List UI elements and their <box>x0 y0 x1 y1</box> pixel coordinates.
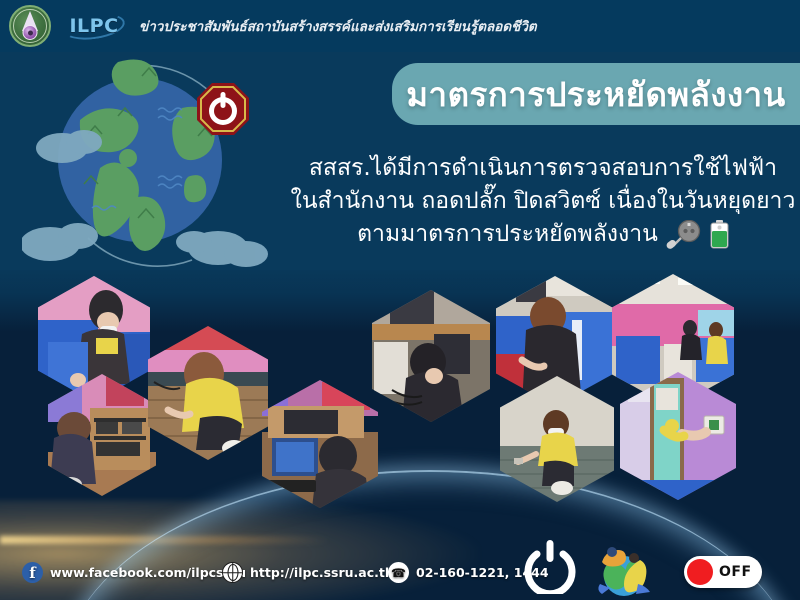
phone-icon: ☎ <box>388 562 409 583</box>
globe-icon <box>222 562 243 583</box>
table-row <box>620 372 736 500</box>
toggle-label: OFF <box>719 564 752 580</box>
ilpc-logo-text: ILPC <box>69 15 118 37</box>
table-row <box>148 326 268 460</box>
photo-under-desk <box>372 290 490 422</box>
facebook-url: www.facebook.com/ilpcssru <box>50 565 246 580</box>
body-line-1: สสสร.ได้มีการดำเนินการตรวจสอบการใช้ไฟฟ้า <box>286 152 800 185</box>
photo-collage <box>0 268 800 503</box>
battery-icon <box>710 220 729 249</box>
photo-shelf-equipment <box>48 374 156 496</box>
table-row <box>48 374 156 496</box>
toggle-knob <box>687 559 713 585</box>
photo-desktop-pc <box>262 380 378 508</box>
body-line-2: ในสำนักงาน ถอดปลั๊ก ปิดสวิตซ์ เนื่องในวั… <box>286 185 800 218</box>
energy-saving-poster: ILPC ข่าวประชาสัมพันธ์สถาบันสร้างสรรค์แล… <box>0 0 800 600</box>
facebook-icon: f <box>22 562 43 583</box>
title-banner: มาตรการประหยัดพลังงาน <box>392 63 800 125</box>
table-row <box>262 380 378 508</box>
ssru-seal-icon <box>9 5 51 47</box>
body-line-3: ตามมาตรการประหยัดพลังงาน <box>357 218 658 251</box>
earth-illustration <box>22 48 272 273</box>
header-bar: ILPC ข่าวประชาสัมพันธ์สถาบันสร้างสรรค์แล… <box>0 0 800 52</box>
page-title: มาตรการประหยัดพลังงาน <box>406 68 785 121</box>
table-row <box>500 376 614 502</box>
photo-light-switch <box>620 372 736 500</box>
earth-hug-illustration <box>594 544 656 598</box>
body-line-3-row: ตามมาตรการประหยัดพลังงาน <box>286 218 800 251</box>
website-url: http://ilpc.ssru.ac.th <box>250 565 394 580</box>
plug-icon <box>664 220 704 250</box>
power-icon <box>522 538 578 594</box>
footer-bar: f www.facebook.com/ilpcssru http://ilpc.… <box>0 546 800 600</box>
body-text: สสสร.ได้มีการดำเนินการตรวจสอบการใช้ไฟฟ้า… <box>286 152 800 251</box>
photo-wall-socket <box>500 376 614 502</box>
header-tagline: ข่าวประชาสัมพันธ์สถาบันสร้างสรรค์และส่งเ… <box>139 15 537 37</box>
power-badge-icon <box>197 83 249 135</box>
off-toggle-switch[interactable]: OFF <box>684 556 762 588</box>
facebook-link[interactable]: f www.facebook.com/ilpcssru <box>22 562 246 583</box>
website-link[interactable]: http://ilpc.ssru.ac.th <box>222 562 394 583</box>
table-row <box>372 290 490 422</box>
photo-floor-socket <box>148 326 268 460</box>
ilpc-logo: ILPC <box>63 11 125 41</box>
